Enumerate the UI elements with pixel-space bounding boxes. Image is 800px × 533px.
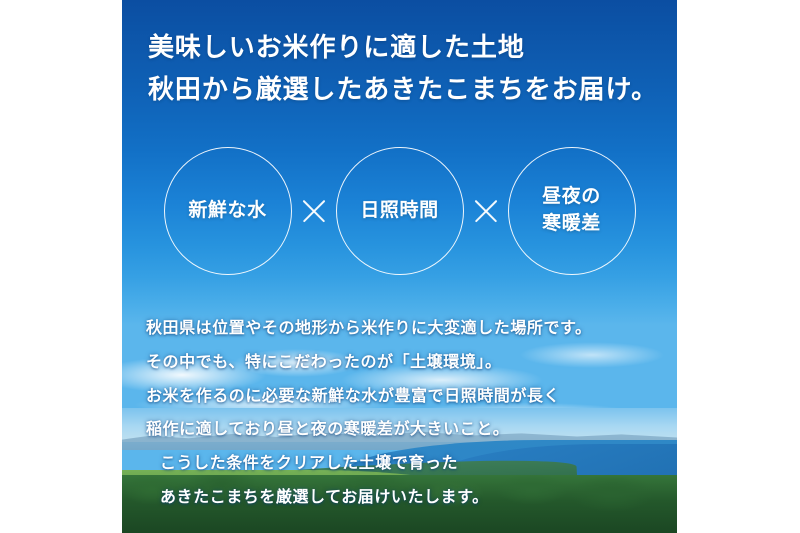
body-line-1: 秋田県は位置やその地形から米作りに大変適した場所です。 (146, 312, 653, 346)
promo-banner: 美味しいお米作りに適した土地 秋田から厳選したあきたこまちをお届け。 新鮮な水 … (122, 0, 677, 533)
body-line-6: あきたこまちを厳選してお届けいたします。 (146, 481, 653, 515)
factor-circle-sunshine-hours: 日照時間 (336, 147, 464, 275)
factor-label-temperature-range: 昼夜の 寒暖差 (542, 184, 601, 238)
factor-label-fresh-water: 新鮮な水 (188, 198, 266, 225)
body-line-3: お米を作るのに必要な新鮮な水が豊富で日照時間が長く (146, 380, 653, 414)
factors-row: 新鮮な水 日照時間 昼夜の 寒暖差 (122, 145, 677, 277)
multiply-icon-2 (464, 189, 508, 233)
headline: 美味しいお米作りに適した土地 秋田から厳選したあきたこまちをお届け。 (122, 26, 677, 110)
body-line-5: こうした条件をクリアした土壌で育った (146, 447, 653, 481)
body-line-4: 稲作に適しており昼と夜の寒暖差が大きいこと。 (146, 413, 653, 447)
headline-line-2: 秋田から厳選したあきたこまちをお届け。 (148, 68, 651, 110)
headline-line-1: 美味しいお米作りに適した土地 (148, 26, 651, 68)
page-root: 美味しいお米作りに適した土地 秋田から厳選したあきたこまちをお届け。 新鮮な水 … (0, 0, 800, 533)
factor-circle-fresh-water: 新鮮な水 (164, 147, 292, 275)
multiply-icon-1 (292, 189, 336, 233)
factor-circle-temperature-range: 昼夜の 寒暖差 (508, 147, 636, 275)
body-copy: 秋田県は位置やその地形から米作りに大変適した場所です。 その中でも、特にこだわっ… (122, 312, 677, 515)
factor-label-sunshine-hours: 日照時間 (360, 198, 438, 225)
body-line-2: その中でも、特にこだわったのが「土壌環境」。 (146, 346, 653, 380)
